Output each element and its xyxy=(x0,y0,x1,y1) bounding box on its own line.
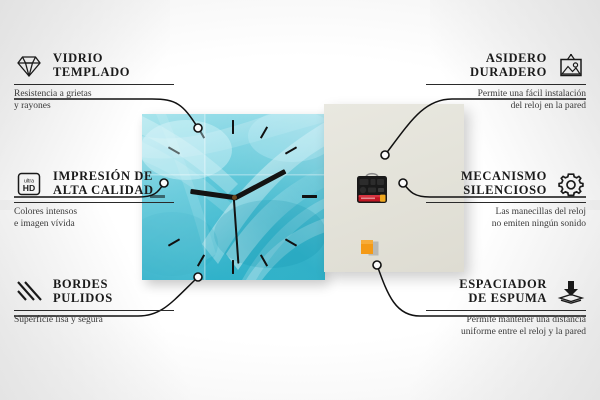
feature-title: IMPRESIÓN DE ALTA CALIDAD xyxy=(53,170,154,197)
feature-description: Las manecillas del reloj no emiten ningú… xyxy=(426,207,586,230)
feature-underline xyxy=(426,84,586,85)
feature-heading-row: ESPACIADOR DE ESPUMA xyxy=(426,278,586,305)
feature-heading-row: MECANISMO SILENCIOSO xyxy=(426,170,586,197)
feature-underline xyxy=(14,202,174,203)
feature-description: Superficie lisa y segura xyxy=(14,315,174,327)
feature-title: ESPACIADOR DE ESPUMA xyxy=(459,278,547,305)
polished-edges-icon xyxy=(14,279,44,305)
clock-tick xyxy=(232,120,234,134)
feature-heading-row: BORDES PULIDOS xyxy=(14,278,174,305)
feature-espaciador-espuma: ESPACIADOR DE ESPUMA Permite mantener un… xyxy=(426,278,586,338)
hanging-frame-icon xyxy=(556,53,586,79)
feature-description: Colores intensos e imagen vívida xyxy=(14,207,174,230)
feature-vidrio-templado: VIDRIO TEMPLADO Resistencia a grietas y … xyxy=(14,52,174,112)
feature-underline xyxy=(14,310,174,311)
feature-title: VIDRIO TEMPLADO xyxy=(53,52,130,79)
clock-mechanism xyxy=(352,168,392,208)
feature-title: ASIDERO DURADERO xyxy=(470,52,547,79)
feature-underline xyxy=(14,84,174,85)
gear-icon xyxy=(556,171,586,197)
clock-tick xyxy=(302,195,317,198)
feature-title: BORDES PULIDOS xyxy=(53,278,113,305)
feature-description: Permite una fácil instalación del reloj … xyxy=(426,89,586,112)
feature-impresion-alta-calidad: ultra HD IMPRESIÓN DE ALTA CALIDAD Color… xyxy=(14,170,174,230)
infographic-canvas: VIDRIO TEMPLADO Resistencia a grietas y … xyxy=(0,0,600,400)
ultra-hd-badge-icon: ultra HD xyxy=(14,171,44,197)
feature-mecanismo-silencioso: MECANISMO SILENCIOSO Las manecillas del … xyxy=(426,170,586,230)
diamond-icon xyxy=(14,53,44,79)
clock-center-hub xyxy=(232,195,237,200)
foam-spacer-icon xyxy=(556,279,586,305)
feature-heading-row: ASIDERO DURADERO xyxy=(426,52,586,79)
feature-asidero-duradero: ASIDERO DURADERO Permite una fácil insta… xyxy=(426,52,586,112)
feature-description: Resistencia a grietas y rayones xyxy=(14,89,174,112)
feature-title: MECANISMO SILENCIOSO xyxy=(461,170,547,197)
clock-tick xyxy=(232,260,234,274)
foam-spacer-piece xyxy=(360,240,380,258)
feature-underline xyxy=(426,310,586,311)
feature-underline xyxy=(426,202,586,203)
feature-description: Permite mantener una distancia uniforme … xyxy=(426,315,586,338)
feature-heading-row: VIDRIO TEMPLADO xyxy=(14,52,174,79)
svg-text:HD: HD xyxy=(23,183,35,193)
feature-bordes-pulidos: BORDES PULIDOS Superficie lisa y segura xyxy=(14,278,174,327)
feature-heading-row: ultra HD IMPRESIÓN DE ALTA CALIDAD xyxy=(14,170,174,197)
